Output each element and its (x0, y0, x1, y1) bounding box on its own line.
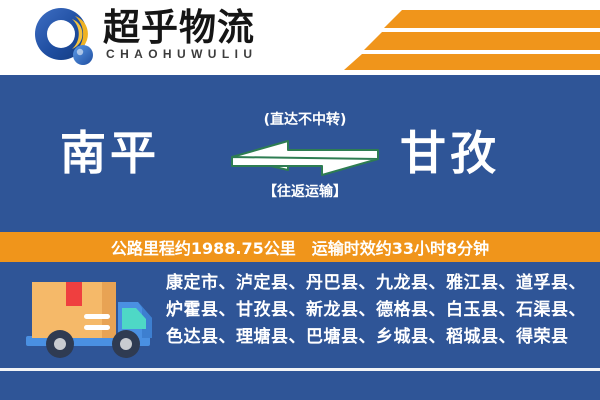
delivery-truck-icon (22, 274, 157, 366)
route-info-text: 公路里程约1988.75公里 运输时效约33小时8分钟 (111, 235, 489, 259)
speed-stripes-icon (340, 6, 600, 70)
road-line (0, 368, 600, 371)
brand-name-cn: 超乎物流 (103, 8, 255, 48)
coverage-line: 康定市、泸定县、丹巴县、九龙县、雅江县、道孚县、 (166, 270, 590, 297)
bidirectional-arrow-icon (230, 137, 380, 179)
direct-service-note: (直达不中转) (230, 109, 380, 129)
brand-name-en: CHAOHUWULIU (106, 47, 257, 61)
coverage-section: 康定市、泸定县、丹巴县、九龙县、雅江县、道孚县、 炉霍县、甘孜县、新龙县、德格县… (0, 262, 600, 400)
coverage-line: 色达县、理塘县、巴塘县、乡城县、稻城县、得荣县 (166, 324, 590, 351)
destination-city: 甘孜 (400, 125, 500, 181)
round-trip-note: 【往返运输】 (230, 181, 380, 201)
coverage-city-list: 康定市、泸定县、丹巴县、九龙县、雅江县、道孚县、 炉霍县、甘孜县、新龙县、德格县… (166, 270, 590, 351)
coverage-line: 炉霍县、甘孜县、新龙县、德格县、白玉县、石渠县、 (166, 297, 590, 324)
header-bar: 超乎物流 CHAOHUWULIU (0, 0, 600, 75)
route-info-bar: 公路里程约1988.75公里 运输时效约33小时8分钟 (0, 232, 600, 262)
route-section: 南平 (直达不中转) 【往返运输】 甘孜 (0, 75, 600, 230)
origin-city: 南平 (60, 125, 160, 181)
circular-q-logo-icon (30, 7, 100, 69)
route-middle-group: (直达不中转) 【往返运输】 (230, 109, 380, 219)
logistics-route-banner: 超乎物流 CHAOHUWULIU 南平 (直达不中转) 【往 (0, 0, 600, 400)
